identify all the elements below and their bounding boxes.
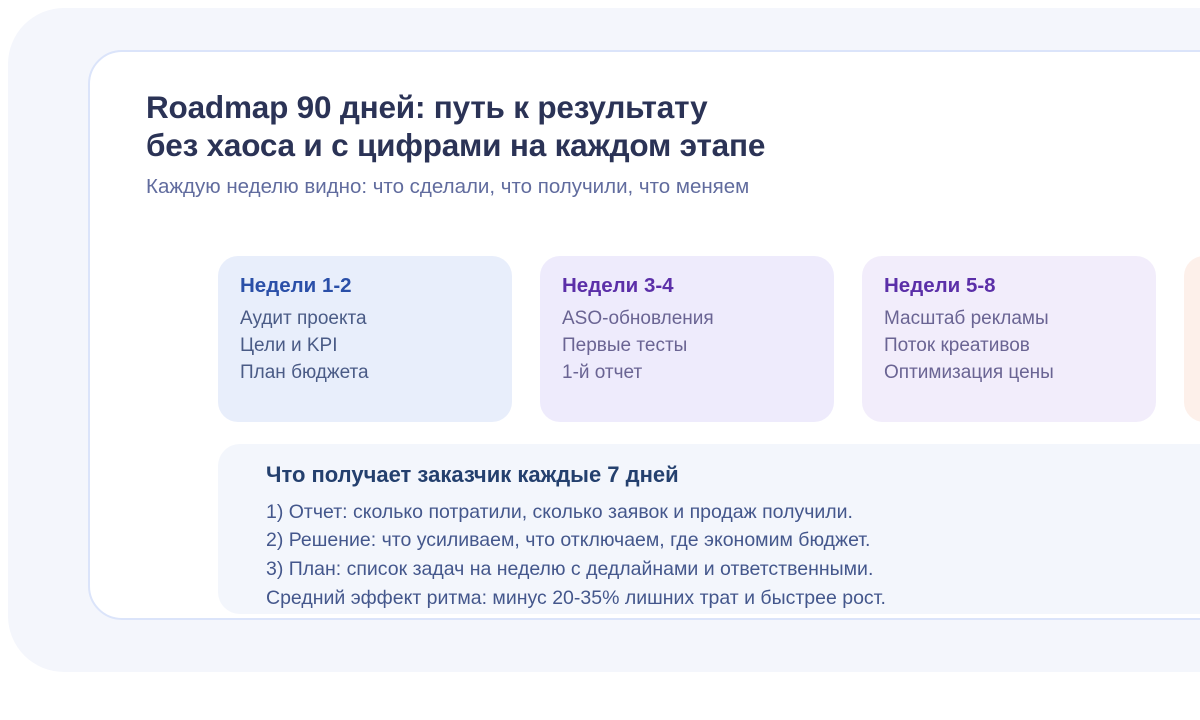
phase-title: Недели 3-4 xyxy=(562,272,812,300)
header-block: Roadmap 90 дней: путь к результату без х… xyxy=(146,88,1200,199)
page-subtitle: Каждую неделю видно: что сделали, что по… xyxy=(146,174,1200,200)
page-title-line-2: без хаоса и с цифрами на каждом этапе xyxy=(146,126,1200,164)
phase-item: Первые тесты xyxy=(562,332,812,359)
summary-line-effect: Средний эффект ритма: минус 20-35% лишни… xyxy=(266,584,1200,613)
phase-item: Аудит проекта xyxy=(240,305,490,332)
summary-line-1: 1) Отчет: сколько потратили, сколько зая… xyxy=(266,498,1200,527)
phase-cards-row: Недели 1-2 Аудит проекта Цели и KPI План… xyxy=(218,256,1200,422)
phase-title: Недели 5-8 xyxy=(884,272,1134,300)
phase-card-weeks-5-8[interactable]: Недели 5-8 Масштаб рекламы Поток креатив… xyxy=(862,256,1156,422)
summary-line-3: 3) План: список задач на неделю с дедлай… xyxy=(266,555,1200,584)
phase-item: План бюджета xyxy=(240,359,490,386)
phase-item: ASO-обновления xyxy=(562,305,812,332)
phase-item: Масштаб рекламы xyxy=(884,305,1134,332)
weekly-deliverables-panel: Что получает заказчик каждые 7 дней 1) О… xyxy=(218,444,1200,614)
slide-card: Roadmap 90 дней: путь к результату без х… xyxy=(88,50,1200,620)
page-title-line-1: Roadmap 90 дней: путь к результату xyxy=(146,88,1200,126)
phase-item: Оптимизация цены xyxy=(884,359,1134,386)
phase-item: 1-й отчет xyxy=(562,359,812,386)
summary-title: Что получает заказчик каждые 7 дней xyxy=(266,461,1200,490)
phase-card-weeks-1-2[interactable]: Недели 1-2 Аудит проекта Цели и KPI План… xyxy=(218,256,512,422)
phase-card-weeks-3-4[interactable]: Недели 3-4 ASO-обновления Первые тесты 1… xyxy=(540,256,834,422)
phase-title: Недели 1-2 xyxy=(240,272,490,300)
slide-root: Roadmap 90 дней: путь к результату без х… xyxy=(0,0,1200,720)
phase-item: Поток креативов xyxy=(884,332,1134,359)
phase-card-weeks-next-partial[interactable]: Недели CRM и Повтор 2-й отч xyxy=(1184,256,1200,422)
phase-item: Цели и KPI xyxy=(240,332,490,359)
summary-line-2: 2) Решение: что усиливаем, что отключаем… xyxy=(266,526,1200,555)
